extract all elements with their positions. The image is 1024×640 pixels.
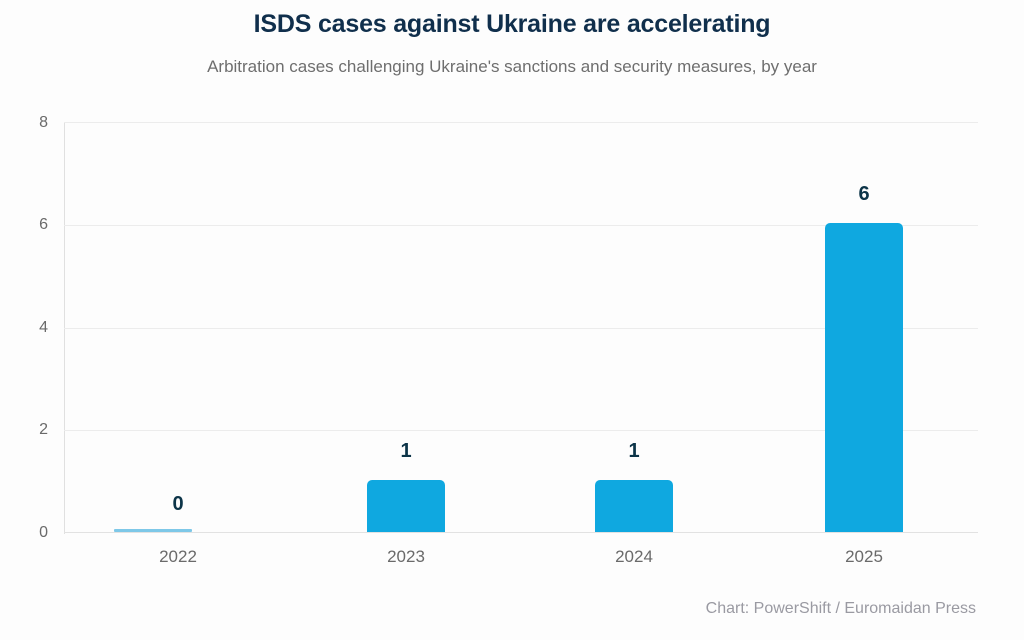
y-tick-label-0: 0: [10, 525, 48, 541]
chart-subtitle: Arbitration cases challenging Ukraine's …: [0, 57, 1024, 77]
bar-2024[interactable]: [595, 480, 673, 532]
bar-2023[interactable]: [367, 480, 445, 532]
y-tick-label-8: 8: [10, 115, 48, 131]
gridline-8: [64, 122, 978, 123]
gridline-0: [64, 532, 978, 533]
x-tick-label-2023: 2023: [366, 548, 446, 565]
x-tick-label-2024: 2024: [594, 548, 674, 565]
y-tick-label-4: 4: [10, 320, 48, 336]
value-label-2024: 1: [599, 441, 669, 461]
x-tick-label-2022: 2022: [138, 548, 218, 565]
chart-figure: ISDS cases against Ukraine are accelerat…: [0, 0, 1024, 640]
value-label-2023: 1: [371, 441, 441, 461]
chart-credit: Chart: PowerShift / Euromaidan Press: [706, 600, 976, 618]
value-label-2022: 0: [143, 494, 213, 514]
bar-2022[interactable]: [114, 529, 192, 532]
value-label-2025: 6: [829, 184, 899, 204]
chart-title: ISDS cases against Ukraine are accelerat…: [0, 10, 1024, 39]
y-tick-label-6: 6: [10, 217, 48, 233]
y-tick-label-2: 2: [10, 422, 48, 438]
x-tick-label-2025: 2025: [824, 548, 904, 565]
bar-2025[interactable]: [825, 223, 903, 532]
